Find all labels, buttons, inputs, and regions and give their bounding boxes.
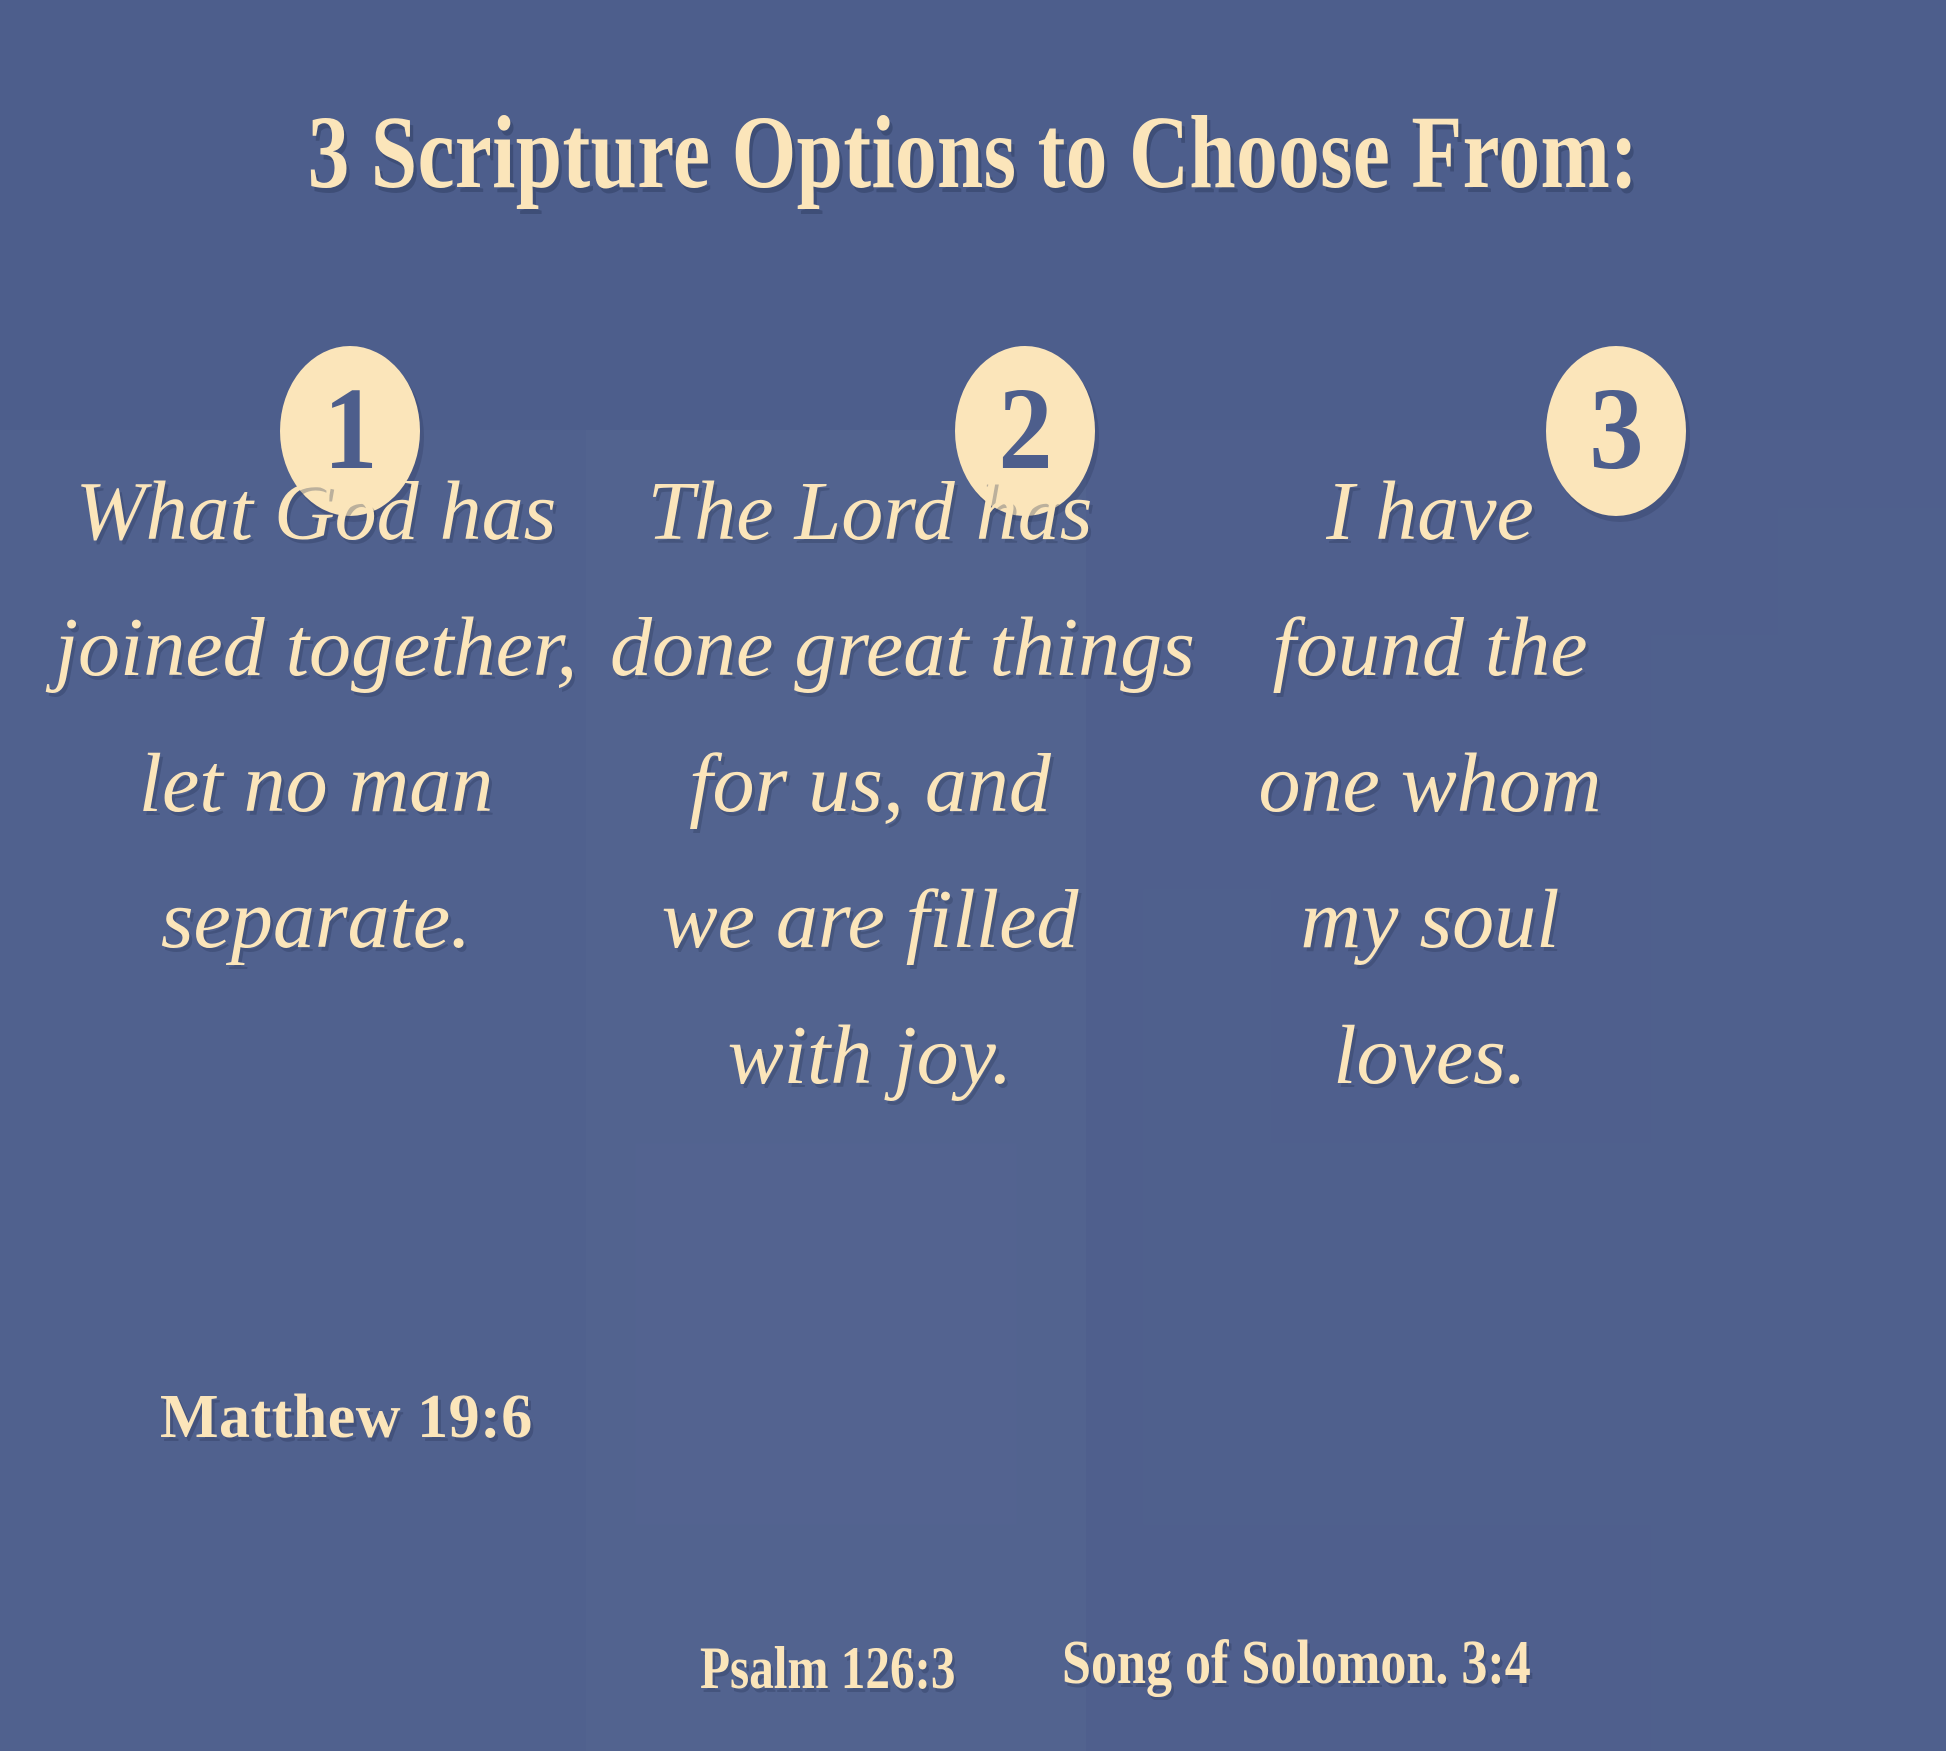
verse-text-2: The Lord has done great things for us, a… <box>610 470 1130 1098</box>
verse-line: The Lord has <box>610 470 1130 554</box>
verse-line: with joy. <box>610 1014 1130 1098</box>
verse-line: one whom <box>1150 742 1710 826</box>
scripture-option-3: I have found the one whom my soul loves. <box>1150 470 1710 1150</box>
page-title: 3 Scripture Options to Choose From: <box>195 98 1752 207</box>
verse-line: joined together, <box>36 606 596 690</box>
verse-line: loves. <box>1150 1014 1710 1098</box>
verse-line: What God has <box>36 470 596 554</box>
verse-line: for us, and <box>610 742 1130 826</box>
scripture-option-1: What God has joined together, let no man… <box>36 470 596 1014</box>
verse-text-1: What God has joined together, let no man… <box>36 470 596 962</box>
verse-line: we are filled <box>610 878 1130 962</box>
verse-line: let no man <box>36 742 596 826</box>
scripture-citation-2: Psalm 126:3 <box>700 1634 956 1703</box>
verse-line: I have <box>1150 470 1710 554</box>
scripture-citation-1: Matthew 19:6 <box>160 1382 533 1453</box>
verse-line: separate. <box>36 878 596 962</box>
poster-canvas: 3 Scripture Options to Choose From: 1 Wh… <box>0 0 1946 1751</box>
verse-line: done great things <box>610 606 1130 690</box>
scripture-option-2: The Lord has done great things for us, a… <box>610 470 1130 1150</box>
scripture-citation-3: Song of Solomon. 3:4 <box>1062 1628 1531 1699</box>
verse-line: my soul <box>1150 878 1710 962</box>
verse-text-3: I have found the one whom my soul loves. <box>1150 470 1710 1098</box>
verse-line: found the <box>1150 606 1710 690</box>
